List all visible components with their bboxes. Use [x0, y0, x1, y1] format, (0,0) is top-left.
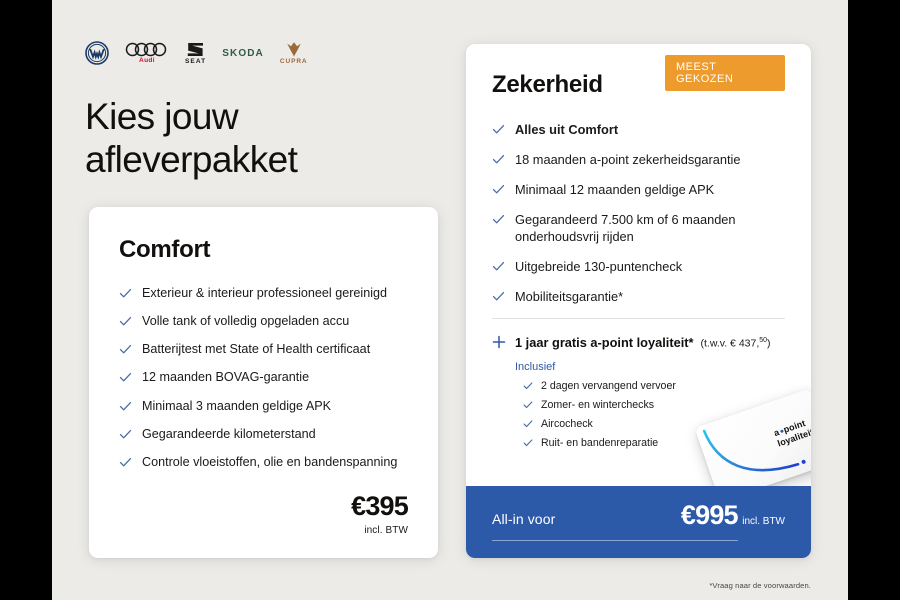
- audi-logo-caption: Audi: [139, 58, 155, 65]
- list-item-label: Controle vloeistoffen, olie en bandenspa…: [142, 454, 397, 471]
- cupra-logo: CUPRA: [280, 41, 308, 66]
- loyalty-headline-row: 1 jaar gratis a-point loyaliteit* (t.w.v…: [492, 333, 785, 350]
- list-item-label: Batterijtest met State of Health certifi…: [142, 341, 370, 358]
- loyalty-value-prefix: (t.w.v. € 437,: [701, 338, 760, 350]
- comfort-price-note: incl. BTW: [351, 525, 408, 536]
- list-item: 2 dagen vervangend vervoer: [523, 380, 785, 392]
- zekerheid-feature-list: Alles uit Comfort 18 maanden a-point zek…: [492, 121, 785, 305]
- list-item: Minimaal 12 maanden geldige APK: [492, 181, 785, 198]
- allin-label: All-in voor: [492, 502, 555, 527]
- check-icon: [523, 400, 533, 410]
- list-item-label: Zomer- en winterchecks: [541, 399, 654, 411]
- skoda-logo: SKODA: [222, 48, 264, 59]
- comfort-card-title: Comfort: [119, 236, 408, 264]
- cupra-logo-caption: CUPRA: [280, 59, 308, 66]
- zekerheid-price: €995: [681, 500, 738, 530]
- footer-rule: [492, 540, 738, 541]
- package-card-zekerheid[interactable]: MEEST GEKOZEN Zekerheid Alles uit Comfor…: [466, 44, 811, 558]
- list-item: Alles uit Comfort: [492, 121, 785, 138]
- list-item: Zomer- en winterchecks: [523, 399, 785, 411]
- check-icon: [119, 456, 132, 469]
- seat-logo: SEAT: [185, 41, 206, 66]
- list-item-label: Alles uit Comfort: [515, 121, 618, 138]
- inclusief-label: Inclusief: [515, 361, 785, 373]
- list-item-label: Exterieur & interieur professioneel gere…: [142, 285, 387, 302]
- list-item-label: Aircocheck: [541, 418, 593, 430]
- list-item: Exterieur & interieur professioneel gere…: [119, 285, 408, 302]
- page-title-line1: Kies jouw: [85, 96, 238, 137]
- check-icon: [492, 183, 505, 196]
- screenshot-stage: Audi SEAT SKODA CUPRA Kies jouw aflev: [0, 0, 900, 600]
- volkswagen-logo: [85, 41, 109, 65]
- skoda-logo-caption: SKODA: [222, 48, 264, 59]
- check-icon: [523, 381, 533, 391]
- comfort-feature-list: Exterieur & interieur professioneel gere…: [119, 285, 408, 471]
- check-icon: [119, 371, 132, 384]
- list-item-label: Minimaal 12 maanden geldige APK: [515, 181, 714, 198]
- list-item-label: Mobiliteitsgarantie*: [515, 288, 623, 305]
- list-item: Gegarandeerd 7.500 km of 6 maanden onder…: [492, 211, 785, 246]
- list-item: Gegarandeerde kilometerstand: [119, 426, 408, 443]
- check-icon: [119, 343, 132, 356]
- loyalty-value-suffix: ): [767, 338, 771, 350]
- terms-footnote: *Vraag naar de voorwaarden.: [709, 581, 811, 590]
- list-item-label: 18 maanden a-point zekerheidsgarantie: [515, 151, 741, 168]
- list-item-label: Volle tank of volledig opgeladen accu: [142, 313, 349, 330]
- comfort-price-block: €395 incl. BTW: [351, 493, 408, 536]
- list-item: Batterijtest met State of Health certifi…: [119, 341, 408, 358]
- check-icon: [492, 153, 505, 166]
- list-item-label: Ruit- en bandenreparatie: [541, 437, 658, 449]
- zekerheid-price-note: incl. BTW: [742, 516, 785, 527]
- section-divider: [492, 318, 785, 319]
- list-item-label: Gegarandeerde kilometerstand: [142, 426, 316, 443]
- list-item-label: Uitgebreide 130-puntencheck: [515, 258, 682, 275]
- loyalty-title: 1 jaar gratis a-point loyaliteit*: [515, 335, 694, 350]
- page-title: Kies jouw afleverpakket: [85, 96, 415, 182]
- loyalty-value-cents: 50: [759, 337, 767, 344]
- list-item: Controle vloeistoffen, olie en bandenspa…: [119, 454, 408, 471]
- package-card-comfort[interactable]: Comfort Exterieur & interieur profession…: [89, 207, 438, 558]
- list-item: Uitgebreide 130-puntencheck: [492, 258, 785, 275]
- check-icon: [492, 213, 505, 226]
- list-item-label: 12 maanden BOVAG-garantie: [142, 369, 309, 386]
- comfort-price: €395: [351, 493, 408, 520]
- check-icon: [119, 428, 132, 441]
- check-icon: [523, 438, 533, 448]
- check-icon: [119, 287, 132, 300]
- zekerheid-price-footer: All-in voor €995 incl. BTW: [466, 486, 811, 558]
- zekerheid-price-block: €995 incl. BTW: [681, 502, 785, 529]
- plus-icon: [492, 335, 506, 349]
- page-title-line2: afleverpakket: [85, 139, 297, 180]
- list-item: Mobiliteitsgarantie*: [492, 288, 785, 305]
- check-icon: [119, 315, 132, 328]
- list-item: 18 maanden a-point zekerheidsgarantie: [492, 151, 785, 168]
- seat-logo-caption: SEAT: [185, 59, 206, 66]
- status-badge: MEEST GEKOZEN: [665, 55, 785, 91]
- check-icon: [523, 419, 533, 429]
- list-item: Minimaal 3 maanden geldige APK: [119, 398, 408, 415]
- list-item-label: 2 dagen vervangend vervoer: [541, 380, 676, 392]
- list-item-label: Gegarandeerd 7.500 km of 6 maanden onder…: [515, 211, 785, 246]
- list-item: 12 maanden BOVAG-garantie: [119, 369, 408, 386]
- loyalty-value: (t.w.v. € 437,50): [701, 337, 771, 350]
- list-item: Volle tank of volledig opgeladen accu: [119, 313, 408, 330]
- audi-logo: Audi: [125, 42, 169, 65]
- most-chosen-badge-wrap: MEEST GEKOZEN: [665, 55, 785, 79]
- zekerheid-price-row: All-in voor €995 incl. BTW: [492, 502, 785, 529]
- list-item-label: Minimaal 3 maanden geldige APK: [142, 398, 331, 415]
- check-icon: [492, 123, 505, 136]
- brand-logo-row: Audi SEAT SKODA CUPRA: [85, 38, 308, 68]
- promo-page: Audi SEAT SKODA CUPRA Kies jouw aflev: [52, 0, 848, 600]
- check-icon: [492, 290, 505, 303]
- check-icon: [119, 400, 132, 413]
- check-icon: [492, 260, 505, 273]
